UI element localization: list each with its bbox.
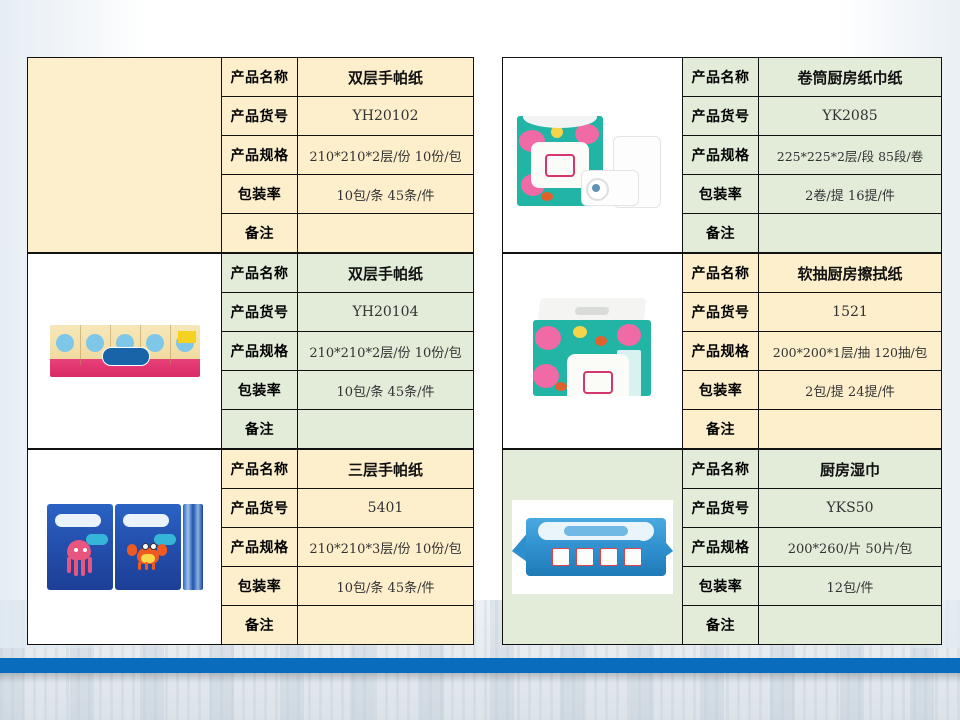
value-packing-rate: 10包/条 45条/件 <box>298 371 473 409</box>
wet-wipes-pack-art <box>512 508 673 586</box>
product-photo-empty <box>28 58 221 252</box>
label-product-code: 产品货号 <box>683 97 759 135</box>
value-product-code: YH20102 <box>298 97 473 135</box>
product-image-cell <box>28 450 222 644</box>
label-packing-rate: 包装率 <box>683 371 759 409</box>
value-product-name: 软抽厨房擦拭纸 <box>759 254 941 292</box>
value-product-spec: 210*210*3层/份 10份/包 <box>298 528 473 566</box>
table-row-product-name: 产品名称 三层手帕纸 <box>222 450 473 489</box>
value-product-name: 双层手帕纸 <box>298 254 473 292</box>
table-row-product-name: 产品名称 软抽厨房擦拭纸 <box>683 254 941 293</box>
table-row-remark: 备注 <box>222 214 473 252</box>
value-product-code: YK2085 <box>759 97 941 135</box>
label-packing-rate: 包装率 <box>683 175 759 213</box>
table-row-remark: 备注 <box>222 410 473 448</box>
label-remark: 备注 <box>222 606 298 644</box>
value-product-spec: 200*200*1层/抽 120抽/包 <box>759 332 941 370</box>
label-packing-rate: 包装率 <box>222 567 298 605</box>
table-row-product-spec: 产品规格 210*210*3层/份 10份/包 <box>222 528 473 567</box>
spec-table: 产品名称 卷筒厨房纸巾纸 产品货号 YK2085 产品规格 225*225*2层… <box>683 58 941 252</box>
label-product-name: 产品名称 <box>683 450 759 488</box>
value-packing-rate: 2卷/提 16提/件 <box>759 175 941 213</box>
product-image-cell <box>503 450 683 644</box>
value-product-name: 厨房湿巾 <box>759 450 941 488</box>
product-image-cell <box>28 254 222 448</box>
ocean-kids-pack-art <box>47 504 203 590</box>
product-card-left-2: 产品名称 双层手帕纸 产品货号 YH20104 产品规格 210*210*2层/… <box>27 253 474 449</box>
bottom-blue-band <box>0 658 960 673</box>
value-remark <box>298 606 473 644</box>
label-product-spec: 产品规格 <box>222 332 298 370</box>
kitchen-softpack-art <box>523 296 663 406</box>
table-row-packing-rate: 包装率 10包/条 45条/件 <box>222 371 473 410</box>
table-row-remark: 备注 <box>683 214 941 252</box>
table-row-packing-rate: 包装率 2包/提 24提/件 <box>683 371 941 410</box>
spec-table: 产品名称 三层手帕纸 产品货号 5401 产品规格 210*210*3层/份 1… <box>222 450 473 644</box>
label-product-spec: 产品规格 <box>683 332 759 370</box>
spec-table: 产品名称 双层手帕纸 产品货号 YH20102 产品规格 210*210*2层/… <box>222 58 473 252</box>
value-product-spec: 210*210*2层/份 10份/包 <box>298 332 473 370</box>
product-card-left-1: 产品名称 双层手帕纸 产品货号 YH20102 产品规格 210*210*2层/… <box>27 57 474 253</box>
value-remark <box>759 606 941 644</box>
product-image-cell <box>503 58 683 252</box>
label-product-name: 产品名称 <box>222 254 298 292</box>
table-row-remark: 备注 <box>222 606 473 644</box>
table-row-product-name: 产品名称 卷筒厨房纸巾纸 <box>683 58 941 97</box>
product-image-cell <box>503 254 683 448</box>
bottom-band-shadow <box>0 673 960 683</box>
label-product-name: 产品名称 <box>222 58 298 96</box>
table-row-product-spec: 产品规格 200*260/片 50片/包 <box>683 528 941 567</box>
table-row-product-code: 产品货号 YK2085 <box>683 97 941 136</box>
table-row-remark: 备注 <box>683 606 941 644</box>
label-packing-rate: 包装率 <box>222 371 298 409</box>
label-remark: 备注 <box>683 410 759 448</box>
label-product-code: 产品货号 <box>683 293 759 331</box>
value-product-code: YKS50 <box>759 489 941 527</box>
value-remark <box>298 410 473 448</box>
value-product-name: 双层手帕纸 <box>298 58 473 96</box>
product-photo-kitchen-roll-pack <box>503 58 682 252</box>
value-packing-rate: 10包/条 45条/件 <box>298 175 473 213</box>
table-row-product-code: 产品货号 YH20104 <box>222 293 473 332</box>
table-row-product-spec: 产品规格 210*210*2层/份 10份/包 <box>222 332 473 371</box>
kitchen-roll-pack-art <box>513 100 673 210</box>
product-card-right-3: 产品名称 厨房湿巾 产品货号 YKS50 产品规格 200*260/片 50片/… <box>502 449 942 645</box>
spec-table: 产品名称 双层手帕纸 产品货号 YH20104 产品规格 210*210*2层/… <box>222 254 473 448</box>
product-photo-ocean-kids-pack <box>28 450 221 644</box>
table-row-product-code: 产品货号 YKS50 <box>683 489 941 528</box>
label-product-name: 产品名称 <box>683 254 759 292</box>
label-product-code: 产品货号 <box>222 489 298 527</box>
table-row-packing-rate: 包装率 10包/条 45条/件 <box>222 567 473 606</box>
label-product-spec: 产品规格 <box>683 136 759 174</box>
value-remark <box>759 214 941 252</box>
value-product-code: 1521 <box>759 293 941 331</box>
spec-table: 产品名称 软抽厨房擦拭纸 产品货号 1521 产品规格 200*200*1层/抽… <box>683 254 941 448</box>
label-product-name: 产品名称 <box>683 58 759 96</box>
label-remark: 备注 <box>683 214 759 252</box>
product-photo-wet-wipes-pack <box>503 450 682 644</box>
label-product-code: 产品货号 <box>222 97 298 135</box>
label-remark: 备注 <box>222 214 298 252</box>
table-row-product-spec: 产品规格 200*200*1层/抽 120抽/包 <box>683 332 941 371</box>
product-card-right-2: 产品名称 软抽厨房擦拭纸 产品货号 1521 产品规格 200*200*1层/抽… <box>502 253 942 449</box>
value-product-spec: 225*225*2层/段 85段/卷 <box>759 136 941 174</box>
label-remark: 备注 <box>683 606 759 644</box>
label-packing-rate: 包装率 <box>222 175 298 213</box>
table-row-product-name: 产品名称 双层手帕纸 <box>222 58 473 97</box>
product-photo-kitchen-softpack <box>503 254 682 448</box>
table-row-product-name: 产品名称 厨房湿巾 <box>683 450 941 489</box>
product-photo-handkerchief-pack <box>28 254 221 448</box>
value-product-name: 卷筒厨房纸巾纸 <box>759 58 941 96</box>
table-row-product-code: 产品货号 5401 <box>222 489 473 528</box>
label-product-code: 产品货号 <box>222 293 298 331</box>
product-card-left-3: 产品名称 三层手帕纸 产品货号 5401 产品规格 210*210*3层/份 1… <box>27 449 474 645</box>
value-packing-rate: 12包/件 <box>759 567 941 605</box>
value-packing-rate: 2包/提 24提/件 <box>759 371 941 409</box>
label-product-name: 产品名称 <box>222 450 298 488</box>
table-row-product-code: 产品货号 1521 <box>683 293 941 332</box>
label-packing-rate: 包装率 <box>683 567 759 605</box>
value-product-code: 5401 <box>298 489 473 527</box>
table-row-packing-rate: 包装率 2卷/提 16提/件 <box>683 175 941 214</box>
value-packing-rate: 10包/条 45条/件 <box>298 567 473 605</box>
label-product-spec: 产品规格 <box>683 528 759 566</box>
label-product-spec: 产品规格 <box>222 136 298 174</box>
table-row-product-name: 产品名称 双层手帕纸 <box>222 254 473 293</box>
table-row-remark: 备注 <box>683 410 941 448</box>
value-product-name: 三层手帕纸 <box>298 450 473 488</box>
handkerchief-pack-art <box>50 325 200 377</box>
label-product-code: 产品货号 <box>683 489 759 527</box>
product-card-right-1: 产品名称 卷筒厨房纸巾纸 产品货号 YK2085 产品规格 225*225*2层… <box>502 57 942 253</box>
product-image-cell <box>28 58 222 252</box>
spec-table: 产品名称 厨房湿巾 产品货号 YKS50 产品规格 200*260/片 50片/… <box>683 450 941 644</box>
value-product-spec: 210*210*2层/份 10份/包 <box>298 136 473 174</box>
table-row-product-spec: 产品规格 210*210*2层/份 10份/包 <box>222 136 473 175</box>
table-row-product-code: 产品货号 YH20102 <box>222 97 473 136</box>
label-remark: 备注 <box>222 410 298 448</box>
value-product-spec: 200*260/片 50片/包 <box>759 528 941 566</box>
value-product-code: YH20104 <box>298 293 473 331</box>
value-remark <box>759 410 941 448</box>
table-row-packing-rate: 包装率 10包/条 45条/件 <box>222 175 473 214</box>
table-row-packing-rate: 包装率 12包/件 <box>683 567 941 606</box>
label-product-spec: 产品规格 <box>222 528 298 566</box>
value-remark <box>298 214 473 252</box>
table-row-product-spec: 产品规格 225*225*2层/段 85段/卷 <box>683 136 941 175</box>
